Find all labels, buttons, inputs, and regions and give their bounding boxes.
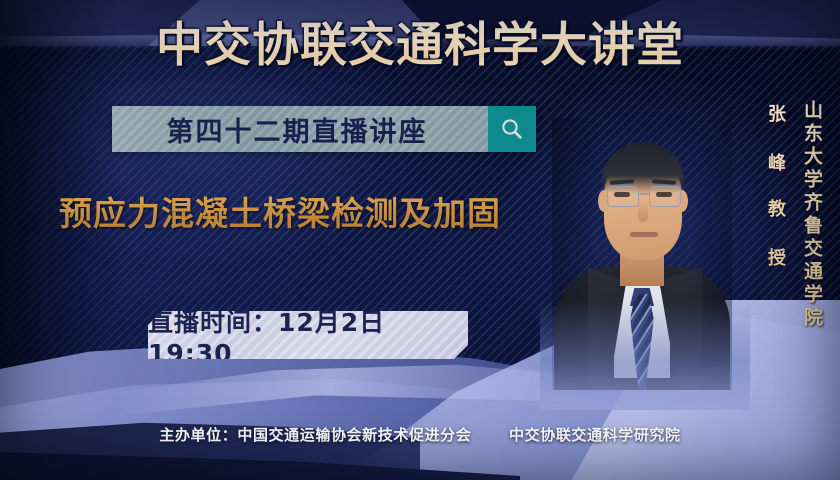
glasses-lens-right <box>649 186 681 207</box>
live-time-badge: 直播时间：12月2日19:30 <box>148 311 468 359</box>
footer-organizer: 主办单位：中国交通运输协会新技术促进分会 <box>159 426 471 444</box>
live-lecture-poster: 中交协联交通科学大讲堂 第四十二期直播讲座 预应力混凝土桥梁检测及加固 直播时间… <box>0 0 840 480</box>
glasses-lens-left <box>607 186 639 207</box>
lecture-topic: 预应力混凝土桥梁检测及加固 <box>0 192 560 236</box>
portrait-mouth <box>630 232 658 237</box>
episode-banner: 第四十二期直播讲座 <box>112 106 536 152</box>
footer: 主办单位：中国交通运输协会新技术促进分会 中交协联交通科学研究院 <box>0 424 840 445</box>
search-icon[interactable] <box>488 106 536 152</box>
page-title: 中交协联交通科学大讲堂 <box>0 17 840 75</box>
live-time-text: 直播时间：12月2日19:30 <box>148 311 468 359</box>
episode-banner-label: 第四十二期直播讲座 <box>112 110 488 149</box>
speaker-photo <box>552 118 732 390</box>
portrait-nose <box>638 202 648 222</box>
speaker-name: 张 峰 教 授 <box>762 104 788 271</box>
speaker-affiliation: 山东大学齐鲁交通学院 <box>799 100 826 330</box>
footer-co-organizer: 中交协联交通科学研究院 <box>509 426 681 444</box>
